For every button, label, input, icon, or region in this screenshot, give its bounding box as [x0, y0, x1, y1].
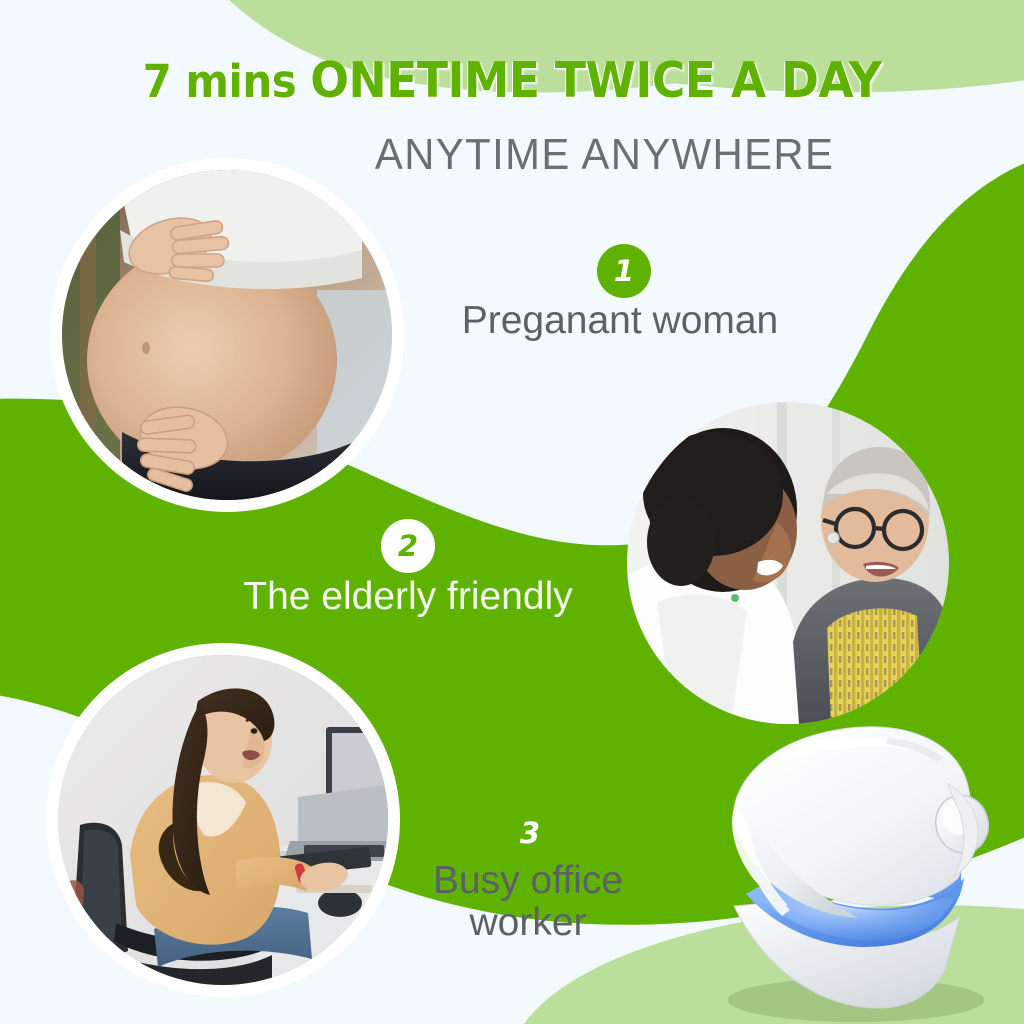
badge-2-number: 2 [398, 532, 418, 561]
badge-3: 3 [503, 806, 557, 860]
headline-main: ONETIME TWICE A DAY [310, 52, 881, 109]
badge-1-number: 1 [614, 257, 634, 286]
product-device [660, 700, 1024, 1024]
photo-office-worker [58, 655, 388, 985]
caption-2: The elderly friendly [208, 576, 608, 618]
subheadline: ANYTIME ANYWHERE [26, 130, 999, 180]
headline: 7 mins ONETIME TWICE A DAY [36, 52, 988, 109]
headline-lead: 7 mins [143, 55, 311, 108]
caption-1: Preganant woman [420, 300, 820, 342]
photo-pregnant-woman [62, 170, 392, 500]
badge-3-number: 3 [520, 819, 540, 848]
photo-doctor-elderly [627, 402, 949, 724]
badge-2: 2 [381, 519, 435, 573]
infographic-canvas: 7 mins ONETIME TWICE A DAY ANYTIME ANYWH… [0, 0, 1024, 1024]
badge-1: 1 [597, 244, 651, 298]
caption-3: Busy office worker [380, 860, 676, 944]
